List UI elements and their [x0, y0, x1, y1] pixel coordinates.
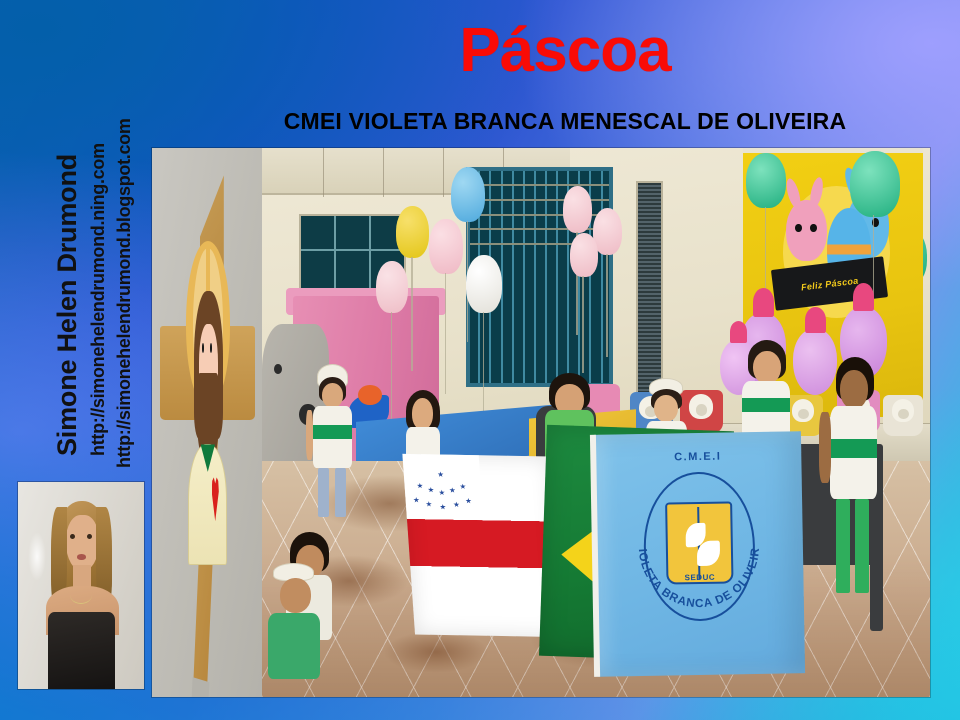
- balloon-pink-5: [570, 233, 598, 277]
- child-left-standing: [303, 368, 363, 560]
- school-subtitle: CMEI VIOLETA BRANCA MENESCAL DE OLIVEIRA: [170, 108, 960, 135]
- svg-text:VIOLETA BRANCA DE OLIVEIRA: VIOLETA BRANCA DE OLIVEIRA: [626, 464, 763, 611]
- portrait-face: [66, 515, 99, 571]
- author-name: Simone Helen Drumond: [52, 154, 83, 456]
- wall-seam: [383, 148, 385, 197]
- balloon-pink-3: [563, 186, 592, 233]
- page-title: Páscoa: [170, 18, 960, 83]
- green-foil-right: [850, 151, 900, 217]
- main-photo: Feliz Páscoa: [152, 148, 930, 697]
- wall-seam: [443, 148, 445, 197]
- child-seated-front-2: [262, 565, 335, 697]
- balloon-white: [466, 255, 502, 313]
- author-link-ning[interactable]: http://simonehelendrumond.ning.com: [88, 143, 109, 456]
- portrait-black-top: [48, 612, 115, 689]
- green-foil-left: [746, 153, 786, 208]
- author-link-blogspot[interactable]: http://simonehelendrumond.blogspot.com: [114, 118, 135, 468]
- amazonas-state-flag: [403, 454, 563, 637]
- school-flag: C.M.E.I SEDUC VIOLETA BRANCA DE OLIVEIRA: [594, 432, 805, 677]
- classroom-scene: Feliz Páscoa: [262, 148, 930, 697]
- author-portrait-photo: [18, 482, 144, 689]
- balloon-pink-1: [429, 219, 462, 274]
- school-crest: C.M.E.I SEDUC VIOLETA BRANCA DE OLIVEIRA: [642, 471, 756, 623]
- crest-arc-text: VIOLETA BRANCA DE OLIVEIRA: [626, 450, 772, 644]
- cross-panel-wall: [152, 148, 262, 697]
- child-right-back: [817, 357, 890, 632]
- amazonas-flag-canton: [403, 454, 484, 520]
- wall-seam: [323, 148, 325, 197]
- balloon-yellow: [396, 206, 429, 258]
- balloon-pink-2: [376, 261, 408, 313]
- balloon-blue: [451, 167, 486, 222]
- slide-canvas: Páscoa CMEI VIOLETA BRANCA MENESCAL DE O…: [0, 0, 960, 720]
- bunny-pink-icon: [786, 200, 826, 260]
